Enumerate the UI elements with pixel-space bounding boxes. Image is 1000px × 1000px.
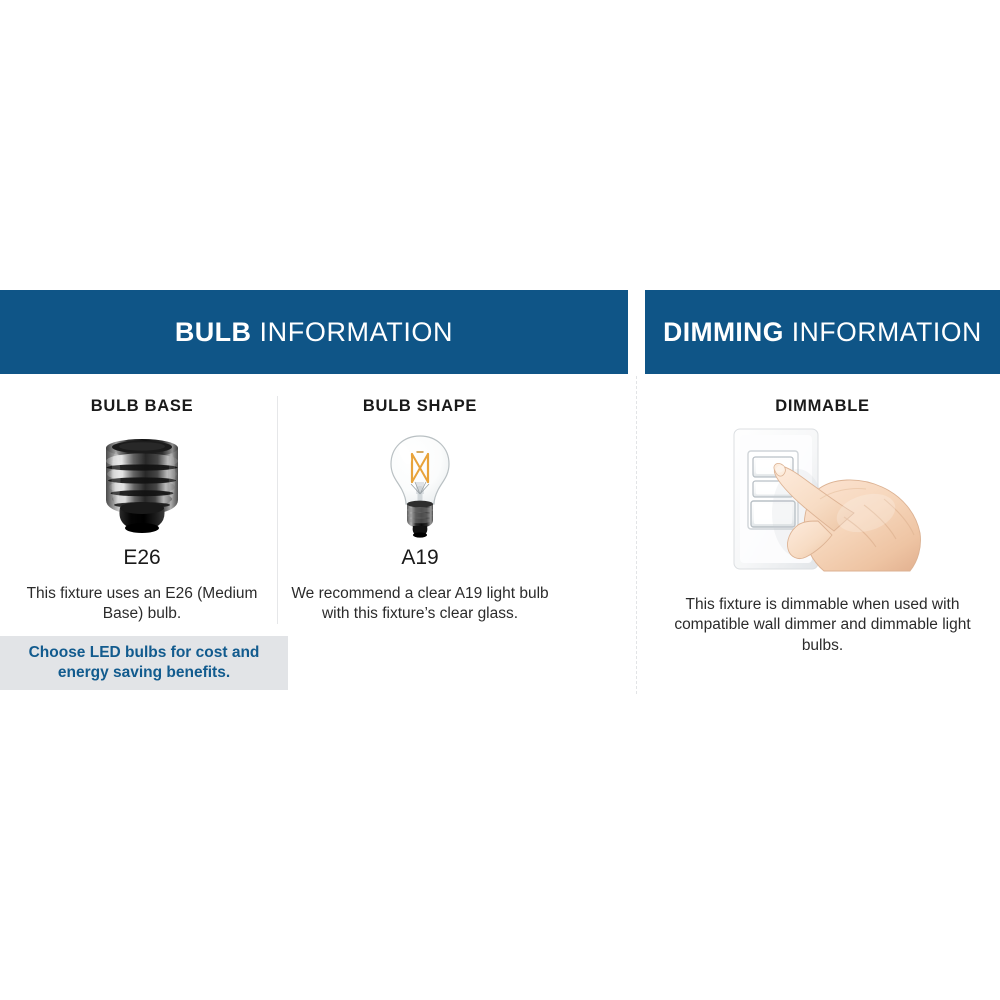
dimming-information-banner: DIMMING INFORMATION: [645, 290, 1000, 374]
dimming-information-banner-title-strong: DIMMING: [663, 317, 784, 347]
panel-dashed-divider: [636, 376, 637, 694]
bulb-shape-caption: A19: [284, 547, 556, 568]
bulb-information-banner-title-rest: INFORMATION: [251, 317, 453, 347]
lamp-screw-base-e26-icon: [86, 436, 198, 536]
bulb-shape-column: BULB SHAPE: [284, 374, 556, 625]
hand-pressing-wall-dimmer-icon: [720, 421, 925, 581]
dimmable-title: DIMMABLE: [645, 398, 1000, 415]
bulb-base-title: BULB BASE: [6, 398, 278, 415]
bulb-shape-description: We recommend a clear A19 light bulb with…: [291, 584, 549, 626]
led-bulbs-callout: Choose LED bulbs for cost and energy sav…: [0, 636, 288, 690]
dimmable-description: This fixture is dimmable when used with …: [673, 595, 973, 658]
bulb-shape-title: BULB SHAPE: [284, 398, 556, 415]
led-bulbs-callout-text: Choose LED bulbs for cost and energy sav…: [18, 643, 270, 684]
a19-filament-bulb-icon: [381, 432, 459, 540]
bulb-base-caption: E26: [6, 547, 278, 568]
bulb-information-banner: BULB INFORMATION: [0, 290, 628, 374]
bulb-base-column: BULB BASE: [6, 374, 278, 625]
dimming-information-banner-title: DIMMING INFORMATION: [663, 317, 982, 348]
bulb-information-banner-title: BULB INFORMATION: [175, 317, 453, 348]
bulb-base-figure: [6, 427, 278, 545]
bulb-base-description: This fixture uses an E26 (Medium Base) b…: [23, 584, 261, 626]
dimming-information-banner-title-rest: INFORMATION: [784, 317, 982, 347]
dimmable-figure: [645, 421, 1000, 581]
dimming-information-panel: DIMMABLE: [645, 374, 1000, 704]
bulb-and-dimming-info-graphic: BULB INFORMATION DIMMING INFORMATION BUL…: [0, 0, 1000, 1000]
bulb-shape-figure: [284, 427, 556, 545]
bulb-information-banner-title-strong: BULB: [175, 317, 252, 347]
dimmable-column: DIMMABLE: [645, 374, 1000, 657]
